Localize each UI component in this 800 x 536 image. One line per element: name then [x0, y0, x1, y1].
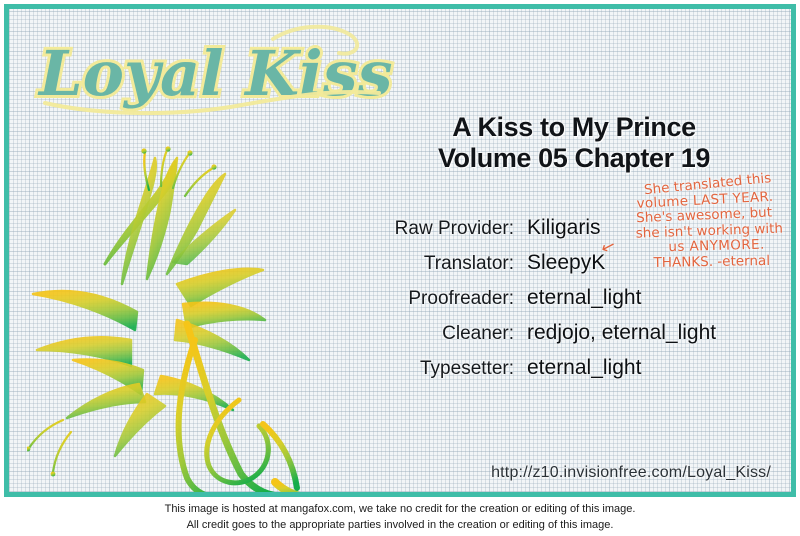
- credit-value: eternal_light: [514, 286, 641, 310]
- scanlation-site-url[interactable]: http://z10.invisionfree.com/Loyal_Kiss/: [491, 464, 771, 482]
- title-line-1: A Kiss to My Prince: [364, 112, 784, 143]
- credit-value: eternal_light: [514, 356, 641, 380]
- credit-row-proofreader: Proofreader: eternal_light: [339, 286, 789, 314]
- credit-row-cleaner: Cleaner: redjojo, eternal_light: [339, 321, 789, 349]
- credit-value: SleepyK: [514, 251, 605, 275]
- credit-label: Translator:: [339, 253, 514, 275]
- note-line-2: volume LAST YEAR.: [615, 188, 796, 213]
- loyal-kiss-logo: Loyal Kiss: [27, 19, 397, 124]
- credit-label: Cleaner:: [339, 323, 514, 345]
- credit-row-translator: Translator: SleepyK: [339, 251, 789, 279]
- logo-wordmark: Loyal Kiss: [37, 37, 393, 110]
- credit-label: Typesetter:: [339, 358, 514, 380]
- disclaimer-line-1: This image is hosted at mangafox.com, we…: [0, 501, 800, 517]
- credits-list: Raw Provider: Kiligaris Translator: Slee…: [339, 216, 789, 391]
- hosting-disclaimer: This image is hosted at mangafox.com, we…: [0, 501, 800, 536]
- title-line-2: Volume 05 Chapter 19: [364, 143, 784, 174]
- chapter-title: A Kiss to My Prince Volume 05 Chapter 19: [364, 112, 784, 174]
- credit-row-raw-provider: Raw Provider: Kiligaris: [339, 216, 789, 244]
- credit-label: Proofreader:: [339, 288, 514, 310]
- credit-value: Kiligaris: [514, 216, 601, 240]
- lily-flower-illustration: [27, 144, 327, 497]
- credit-row-typesetter: Typesetter: eternal_light: [339, 356, 789, 384]
- bordered-credit-panel: Loyal Kiss: [4, 4, 796, 497]
- credit-page-image: Loyal Kiss: [0, 0, 800, 536]
- credit-label: Raw Provider:: [339, 218, 514, 240]
- disclaimer-line-2: All credit goes to the appropriate parti…: [0, 517, 800, 533]
- credit-value: redjojo, eternal_light: [514, 321, 716, 345]
